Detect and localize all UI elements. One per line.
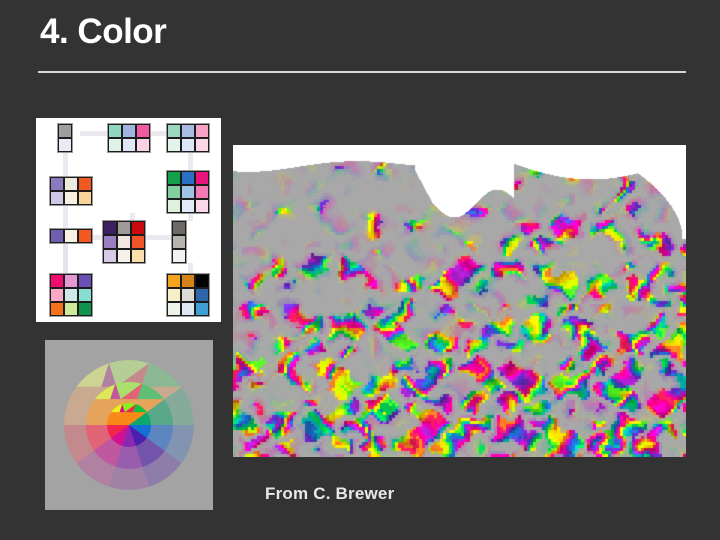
color-swatch — [195, 185, 209, 199]
color-swatch — [167, 274, 181, 288]
color-swatch — [50, 274, 64, 288]
color-swatch — [108, 124, 122, 138]
title-divider — [38, 71, 686, 73]
link-top-center-right — [80, 131, 108, 136]
color-swatch — [195, 138, 209, 152]
color-swatch — [167, 185, 181, 199]
link-center-top — [130, 213, 135, 221]
color-swatch — [78, 302, 92, 316]
colorbrewer-scheme-diagram — [36, 118, 221, 322]
color-swatch — [64, 288, 78, 302]
color-swatch — [131, 249, 145, 263]
grid-top-left — [58, 124, 72, 152]
color-swatch — [108, 138, 122, 152]
color-swatch — [181, 124, 195, 138]
color-swatch — [136, 138, 150, 152]
color-swatch — [167, 199, 181, 213]
color-swatch — [195, 199, 209, 213]
color-wheel-panel — [45, 340, 213, 510]
grid-top-center — [108, 124, 150, 152]
color-wheel — [64, 360, 194, 490]
color-swatch — [195, 274, 209, 288]
color-swatch — [195, 302, 209, 316]
terrain-aspect-canvas — [233, 145, 686, 457]
color-swatch — [122, 124, 136, 138]
link-center-right — [145, 235, 172, 240]
color-swatch — [103, 249, 117, 263]
color-swatch — [50, 229, 64, 243]
link-right-top-down — [188, 152, 193, 171]
color-swatch — [195, 288, 209, 302]
grid-left-upper — [50, 177, 92, 205]
grid-right-upper — [167, 171, 209, 213]
link-right-bottom-down — [188, 263, 193, 274]
color-swatch — [64, 229, 78, 243]
color-swatch — [181, 288, 195, 302]
grid-center — [103, 221, 145, 263]
color-swatch — [167, 138, 181, 152]
color-swatch — [117, 235, 131, 249]
color-swatch — [181, 138, 195, 152]
page-title: 4. Color — [40, 14, 166, 49]
color-swatch — [172, 221, 186, 235]
color-swatch — [181, 302, 195, 316]
color-swatch — [195, 124, 209, 138]
color-swatch — [50, 288, 64, 302]
grid-bottom-left — [50, 274, 92, 316]
color-swatch — [181, 199, 195, 213]
grid-right-mid — [172, 221, 186, 263]
color-swatch — [167, 171, 181, 185]
color-swatch — [122, 138, 136, 152]
link-topleft-vertical — [63, 152, 68, 177]
link-top-right-bridge — [150, 131, 167, 136]
color-swatch — [58, 124, 72, 138]
link-center-left — [92, 235, 103, 240]
color-swatch — [181, 171, 195, 185]
color-swatch — [136, 124, 150, 138]
color-swatch — [50, 177, 64, 191]
color-swatch — [50, 191, 64, 205]
grid-left-mid — [50, 229, 92, 243]
color-swatch — [117, 221, 131, 235]
slide: 4. Color From C. Brewer — [0, 0, 720, 540]
color-swatch — [131, 235, 145, 249]
color-swatch — [64, 177, 78, 191]
color-swatch — [64, 274, 78, 288]
color-swatch — [103, 235, 117, 249]
color-swatch — [172, 235, 186, 249]
color-swatch — [50, 302, 64, 316]
grid-bottom-right — [167, 274, 209, 316]
color-swatch — [103, 221, 117, 235]
color-swatch — [117, 249, 131, 263]
grid-top-right — [167, 124, 209, 152]
link-right-mid-down — [188, 213, 193, 221]
color-swatch — [181, 274, 195, 288]
color-swatch — [64, 191, 78, 205]
color-swatch — [78, 229, 92, 243]
color-swatch — [167, 288, 181, 302]
color-swatch — [172, 249, 186, 263]
color-swatch — [58, 138, 72, 152]
color-swatch — [131, 221, 145, 235]
terrain-aspect-map — [233, 145, 686, 457]
color-swatch — [78, 177, 92, 191]
color-swatch — [167, 302, 181, 316]
image-credit-caption: From C. Brewer — [265, 484, 394, 504]
color-swatch — [195, 171, 209, 185]
color-swatch — [167, 124, 181, 138]
color-swatch — [78, 274, 92, 288]
color-swatch — [181, 185, 195, 199]
wheel-ring-inner — [107, 403, 151, 447]
color-swatch — [64, 302, 78, 316]
color-swatch — [78, 288, 92, 302]
color-swatch — [78, 191, 92, 205]
link-left-lower-down — [63, 243, 68, 274]
